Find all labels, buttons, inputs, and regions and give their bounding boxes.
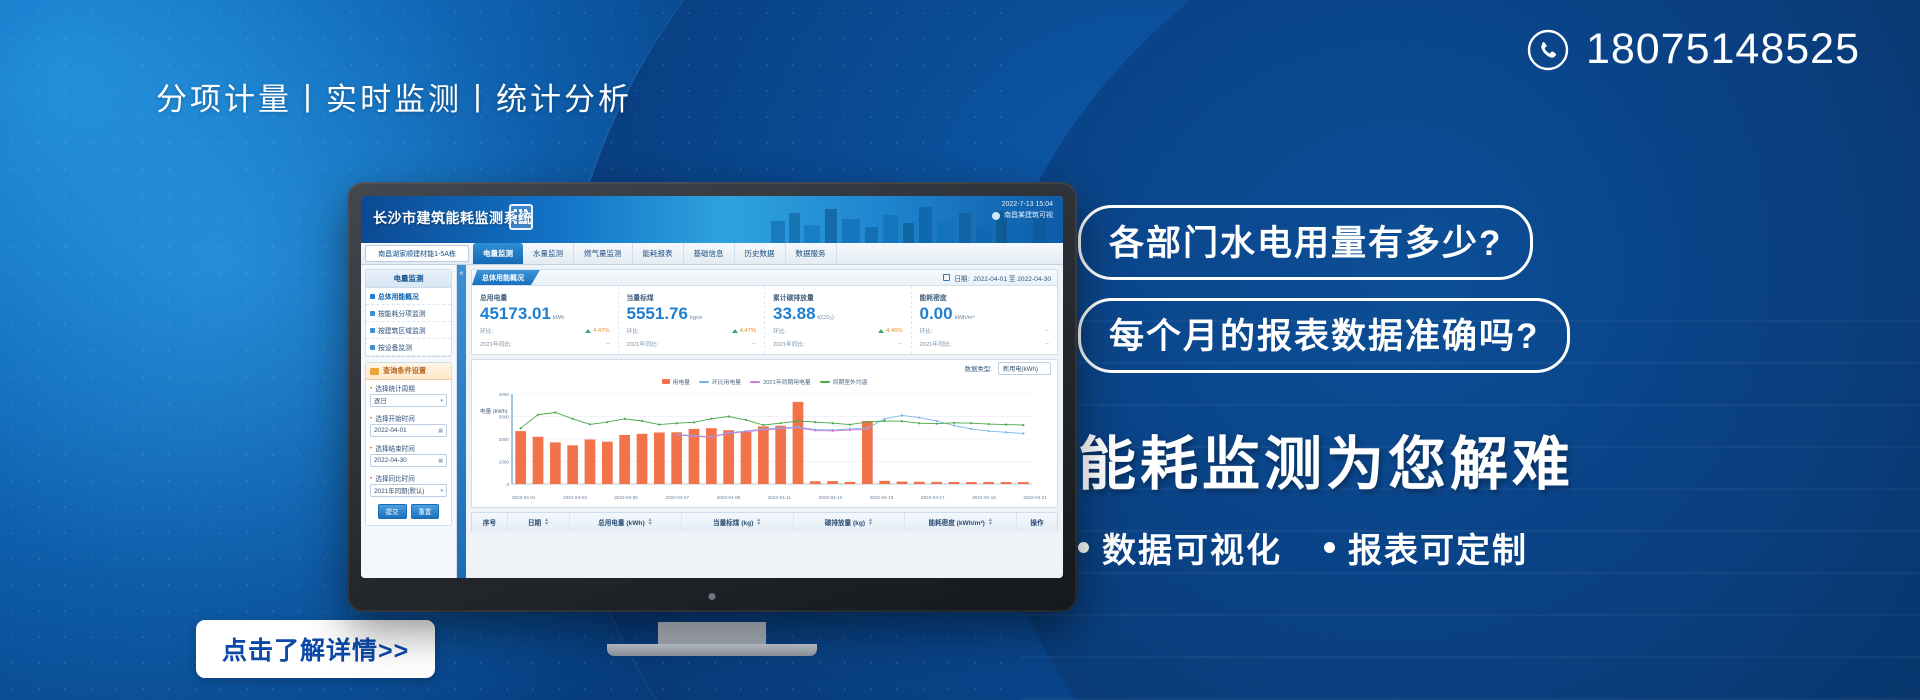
sidebar-menu-card: 电量监测 总体用能概况 按能耗分项监测 按建筑区域监 [365,269,452,357]
header-user[interactable]: 南昌某建筑可视 [992,211,1053,222]
query-condition-title-label: 查询条件设置 [383,366,426,376]
kpi-card-standard-coal: 当量标煤 5551.76 kgce 环比: [619,286,766,354]
calendar-icon: ▦ [438,458,443,464]
feature-bullet-1: 数据可视化 [1078,523,1282,572]
sort-icon: ▲▼ [544,518,549,527]
tab-reports[interactable]: 能耗报表 [633,243,684,264]
promo-banner: 分项计量丨实时监测丨统计分析 18075148525 各部门水电用量有多少? 每… [0,0,1920,700]
sidebar-item-overview[interactable]: 总体用能概况 [366,288,451,305]
chart-x-tick: 2022-04-03 [563,495,587,500]
reset-button[interactable]: 重置 [411,504,440,519]
kpi-unit: t(CO₂) [818,316,834,322]
col-carbon-label: 碳排放量 (kg) [825,517,865,527]
svg-text:1000: 1000 [499,460,510,465]
field-label-period-text: 选择统计周期 [375,383,415,393]
required-asterisk-icon: • [370,415,372,422]
kpi-compare-row: 环比: -- [920,326,1050,335]
yoy-select[interactable]: 2021年同期(默认) ▾ [370,484,447,497]
svg-text:4000: 4000 [499,392,510,397]
chart-x-tick: 2022-04-21 [1023,495,1047,500]
required-asterisk-icon: • [370,475,372,482]
cta-button[interactable]: 点击了解详情>> [196,620,435,678]
submit-button[interactable]: 提交 [378,504,407,519]
kpi-name: 总用电量 [480,292,610,302]
kpi-card-carbon-emission: 累计碳排放量 33.88 t(CO₂) 环比: [765,286,912,354]
sidebar-card-title: 电量监测 [366,270,451,288]
legend-item-temp[interactable]: 同期室外均温 [820,377,868,386]
user-icon [992,212,1000,220]
kpi-name: 能耗密度 [920,292,1050,302]
chart-x-tick: 2022-04-13 [819,495,843,500]
kpi-value: 5551.76 [627,305,688,322]
field-label-start-text: 选择开始时间 [375,413,415,423]
data-type-label: 数据类型: [965,364,992,373]
sidebar-item-by-category[interactable]: 按能耗分项监测 [366,305,451,322]
end-date-input[interactable]: 2022-04-30 ▦ [370,454,447,467]
sort-icon: ▲▼ [868,518,873,527]
kpi-yoy-value: -- [899,341,903,347]
overview-panel-title: 总体用能概况 [472,270,540,285]
sort-icon: ▲▼ [988,518,993,527]
col-density-label: 能耗密度 (kWh/m²) [928,517,984,527]
bullet-square-icon [370,294,375,299]
field-label-end-text: 选择结束时间 [375,443,415,453]
chart-x-tick: 2022-04-07 [666,495,690,500]
bullet-dot-icon [1078,542,1089,553]
chevron-down-icon: ▾ [440,488,443,494]
chart-toolbar: 数据类型: 新用电(kWh) [472,360,1057,375]
query-condition-title: 查询条件设置 [366,363,451,380]
kpi-value: 45173.01 [480,305,551,322]
svg-text:0: 0 [506,482,509,487]
kpi-compare-label: 环比: [627,326,640,335]
arrow-up-icon [585,329,591,333]
chart-x-tick: 2022-04-09 [717,495,741,500]
headline: 能耗监测为您解难 [1078,417,1878,501]
kpi-compare-label: 环比: [480,326,493,335]
monitor-screen: 长沙市建筑能耗监测系统 2022-7-13 15:04 [361,196,1063,578]
kpi-unit: kWh/m² [955,316,975,322]
chart-area: 电量 (kWh) 01000200030004000 2022-04-01202… [472,387,1057,507]
kpi-compare-row: 环比: 4.47% [480,326,610,335]
phone-contact[interactable]: 18075148525 [1527,28,1860,71]
data-table-header: 序号 日期 ▲▼ 总用电量 (kWh) ▲▼ 当量标煤 (k [471,512,1058,531]
feature-bullet-2: 报表可定制 [1324,523,1528,572]
main-content: 总体用能概况 日期: 2022-04-01 至 2022-04-30 总用电量 [466,265,1063,578]
banner-tagline: 分项计量丨实时监测丨统计分析 [156,74,632,119]
date-range-label: 日期: [954,273,969,283]
field-label-yoy: • 选择同比时间 [366,470,451,484]
sort-icon: ▲▼ [756,518,761,527]
kpi-compare-value: 4.47% [740,328,756,334]
sidebar-item-by-area-label: 按建筑区域监测 [378,325,426,335]
kpi-compare-value-wrap: 4.47% [585,328,609,334]
period-select[interactable]: 逐日 ▾ [370,394,447,407]
org-selector[interactable]: 南昌湖家顺建材能1-5A栋 [365,245,469,262]
feature-bullet-1-label: 数据可视化 [1102,523,1282,572]
kpi-yoy-label: 2021年同比: [920,339,952,348]
kpi-yoy-label: 2021年同比: [627,339,659,348]
kpi-yoy-row: 2021年同比: -- [920,339,1050,348]
chart-x-axis-labels: 2022-04-012022-04-032022-04-052022-04-07… [478,494,1051,500]
kpi-unit: kWh [553,316,565,322]
tab-history[interactable]: 历史数据 [735,243,786,264]
kpi-yoy-row: 2021年同比: -- [480,339,610,348]
arrow-up-icon [878,329,884,333]
svg-text:3000: 3000 [499,415,510,420]
kpi-compare-label: 环比: [920,326,933,335]
field-label-yoy-text: 选择同比时间 [375,473,415,483]
chart-x-tick: 2022-04-19 [972,495,996,500]
kpi-yoy-label: 2021年同比: [480,339,512,348]
kpi-yoy-value: -- [752,341,756,347]
start-date-input[interactable]: 2022-04-01 ▦ [370,424,447,437]
col-index-label: 序号 [483,517,496,527]
kpi-yoy-value: -- [606,341,610,347]
legend-label-3: 同期室外均温 [833,377,868,386]
energy-bar-chart: 01000200030004000 [478,390,1038,494]
required-asterisk-icon: • [370,445,372,452]
chart-legend: 用电量 环比用电量 2021年同期用电量 [472,375,1057,387]
chart-y-axis-title: 电量 (kWh) [480,407,508,415]
legend-item-mom[interactable]: 环比用电量 [699,377,741,386]
legend-label-0: 用电量 [673,377,690,386]
question-pill-2: 每个月的报表数据准确吗? [1078,298,1570,373]
kpi-yoy-value: -- [1045,341,1049,347]
feature-bullets: 数据可视化 报表可定制 [1078,523,1878,572]
legend-item-bar[interactable]: 用电量 [662,377,690,386]
col-standard-coal-label: 当量标煤 (kg) [713,517,753,527]
filter-icon [370,368,379,375]
sidebar-item-by-area[interactable]: 按建筑区域监测 [366,322,451,339]
tab-gas[interactable]: 燃气量监测 [574,243,633,264]
kpi-compare-label: 环比: [773,326,786,335]
bullet-square-icon [370,345,375,350]
col-total-electricity[interactable]: 总用电量 (kWh) ▲▼ [570,513,682,531]
legend-label-1: 环比用电量 [712,377,741,386]
query-condition-card: 查询条件设置 • 选择统计周期 逐日 ▾ • [365,362,452,526]
kpi-card-energy-density: 能耗密度 0.00 kWh/m² 环比: -- [912,286,1058,354]
kpi-yoy-row: 2021年同比: -- [773,339,903,348]
tab-water[interactable]: 水量监测 [523,243,574,264]
kpi-unit: kgce [690,316,702,322]
end-date-value: 2022-04-30 [374,457,407,464]
col-index: 序号 [472,513,508,531]
kpi-yoy-row: 2021年同比: -- [627,339,757,348]
kpi-compare-value-wrap: 4.46% [878,328,902,334]
data-type-select[interactable]: 新用电(kWh) [998,362,1051,375]
app-header: 长沙市建筑能耗监测系统 2022-7-13 15:04 [361,196,1063,243]
chevron-down-icon: ▾ [440,398,443,404]
field-label-end: • 选择结束时间 [366,440,451,454]
kpi-value-row: 5551.76 kgce [627,305,757,322]
sort-icon: ▲▼ [648,518,653,527]
sidebar-collapse-button[interactable]: « [457,265,466,578]
calendar-icon: ▦ [438,428,443,434]
sidebar-item-by-device[interactable]: 按设备监测 [366,339,451,356]
start-date-value: 2022-04-01 [374,427,407,434]
sidebar: 电量监测 总体用能概况 按能耗分项监测 按建筑区域监 [361,265,457,578]
col-date-label: 日期 [528,517,541,527]
header-meta: 2022-7-13 15:04 南昌某建筑可视 [992,200,1053,221]
kpi-compare-value-wrap: 4.47% [732,328,756,334]
kpi-value: 33.88 [773,305,816,322]
chart-x-tick: 2022-04-11 [768,495,791,500]
right-copy-column: 各部门水电用量有多少? 每个月的报表数据准确吗? 能耗监测为您解难 数据可视化 … [1078,205,1878,572]
col-carbon[interactable]: 碳排放量 (kg) ▲▼ [794,513,906,531]
sidebar-item-overview-label: 总体用能概况 [378,291,419,301]
kpi-compare-row: 环比: 4.46% [773,326,903,335]
kpi-value: 0.00 [920,305,953,322]
bullet-square-icon [370,311,375,316]
tab-basic-info[interactable]: 基础信息 [684,243,735,264]
legend-label-2: 2021年同期用电量 [763,377,811,386]
legend-swatch-icon [662,379,670,384]
chart-x-tick: 2022-04-17 [921,495,945,500]
col-standard-coal[interactable]: 当量标煤 (kg) ▲▼ [682,513,794,531]
kpi-compare-row: 环比: 4.47% [627,326,757,335]
header-timestamp: 2022-7-13 15:04 [992,200,1053,211]
kpi-value-row: 33.88 t(CO₂) [773,305,903,322]
kpi-value-row: 45173.01 kWh [480,305,610,322]
legend-item-yoy[interactable]: 2021年同期用电量 [750,377,811,386]
kpi-name: 累计碳排放量 [773,292,903,302]
legend-swatch-icon [750,381,760,383]
building-icon [509,204,533,230]
col-action: 操作 [1017,513,1057,531]
kpi-compare-value: 4.46% [886,328,902,334]
monitor-mockup: 长沙市建筑能耗监测系统 2022-7-13 15:04 [347,182,1077,612]
overview-panel: 总体用能概况 日期: 2022-04-01 至 2022-04-30 总用电量 [471,269,1058,355]
chart-x-tick: 2022-04-01 [512,495,536,500]
kpi-card-total-electricity: 总用电量 45173.01 kWh 环比: [472,286,619,354]
field-label-period: • 选择统计周期 [366,380,451,394]
field-label-start: • 选择开始时间 [366,410,451,424]
phone-number: 18075148525 [1586,28,1860,71]
legend-swatch-icon [820,381,830,383]
chart-x-tick: 2022-04-15 [870,495,894,500]
col-total-electricity-label: 总用电量 (kWh) [598,517,645,527]
tab-data-service[interactable]: 数据服务 [786,243,837,264]
question-pill-1: 各部门水电用量有多少? [1078,205,1533,280]
monitor-bezel: 长沙市建筑能耗监测系统 2022-7-13 15:04 [347,182,1077,612]
svg-text:2000: 2000 [499,437,510,442]
sidebar-item-by-device-label: 按设备监测 [378,342,412,352]
col-density[interactable]: 能耗密度 (kWh/m²) ▲▼ [905,513,1017,531]
feature-bullet-2-label: 报表可定制 [1348,523,1528,572]
period-select-value: 逐日 [374,396,387,405]
phone-circle-icon [1527,29,1569,71]
col-action-label: 操作 [1030,517,1043,527]
calendar-icon [943,274,950,281]
monitor-stand-base [607,644,817,656]
kpi-compare-value: 4.47% [593,328,609,334]
bullet-square-icon [370,328,375,333]
header-user-name: 南昌某建筑可视 [1004,211,1053,222]
kpi-cards: 总用电量 45173.01 kWh 环比: [472,286,1057,354]
kpi-compare-value: -- [1045,328,1049,334]
col-date[interactable]: 日期 ▲▼ [508,513,570,531]
overview-panel-header: 总体用能概况 日期: 2022-04-01 至 2022-04-30 [472,270,1057,286]
legend-swatch-icon [699,381,709,383]
sidebar-item-by-category-label: 按能耗分项监测 [378,308,426,318]
bullet-dot-icon [1324,542,1335,553]
kpi-name: 当量标煤 [627,292,757,302]
query-actions: 提交 重置 [366,500,451,525]
yoy-select-value: 2021年同期(默认) [374,486,424,495]
chart-panel: 数据类型: 新用电(kWh) 用电量 环比用电量 [471,359,1058,508]
app-nav-tabs: 南昌湖家顺建材能1-5A栋 电量监测 水量监测 燃气量监测 能耗报表 基础信息 … [361,243,1063,265]
kpi-yoy-label: 2021年同比: [773,339,805,348]
date-range-value: 2022-04-01 至 2022-04-30 [973,273,1051,283]
arrow-up-icon [732,329,738,333]
chart-x-tick: 2022-04-05 [614,495,638,500]
kpi-value-row: 0.00 kWh/m² [920,305,1050,322]
required-asterisk-icon: • [370,385,372,392]
app-body: 电量监测 总体用能概况 按能耗分项监测 按建筑区域监 [361,265,1063,578]
tab-electricity[interactable]: 电量监测 [473,243,523,264]
date-range-display[interactable]: 日期: 2022-04-01 至 2022-04-30 [943,273,1051,283]
